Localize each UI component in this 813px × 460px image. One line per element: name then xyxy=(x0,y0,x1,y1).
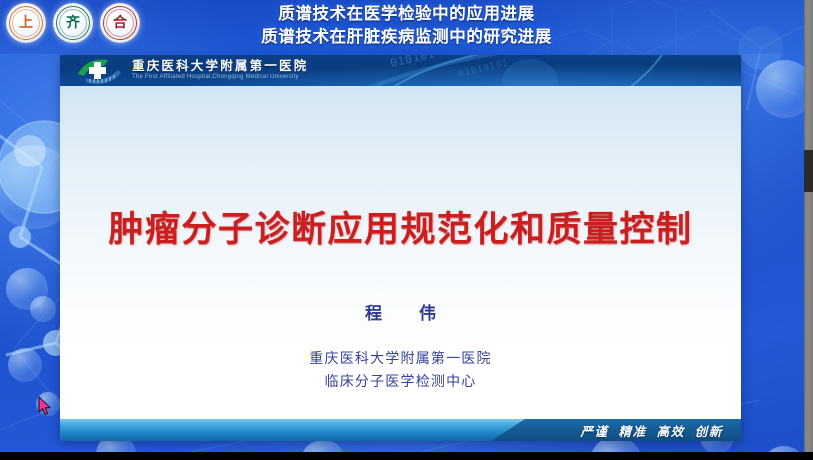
hospital-name-en: The First Affiliated Hospital,Chongqing … xyxy=(132,73,308,82)
slide-header-band: 010101 01010101 xyxy=(60,55,741,86)
mouse-cursor-icon xyxy=(38,396,52,416)
affiliation-line-2: 临床分子医学检测中心 xyxy=(60,371,741,394)
conference-banner: 上 齐 合 质谱技术在医学检验中的应用进展 质谱技术在肝脏疾病监测中的研究进展 xyxy=(0,0,813,54)
affiliation-block: 重庆医科大学附属第一医院 临床分子医学检测中心 xyxy=(60,348,741,394)
scrollbar-thumb[interactable] xyxy=(804,150,813,192)
footer-motto-panel: 严谨 精准 高效 创新 xyxy=(491,419,741,441)
organization-logos: 上 齐 合 xyxy=(6,3,140,43)
slide-footer-band: 严谨 精准 高效 创新 xyxy=(60,419,741,441)
affiliation-line-1: 重庆医科大学附属第一医院 xyxy=(60,348,741,371)
hospital-logo-icon xyxy=(74,56,126,84)
presenter-name: 程 伟 xyxy=(60,299,741,324)
organization-logo-orange: 上 xyxy=(6,3,46,43)
organization-logo-red-mark: 合 xyxy=(113,16,127,30)
window-bottom-edge xyxy=(0,452,813,460)
organization-logo-red: 合 xyxy=(100,3,140,43)
vertical-scrollbar[interactable] xyxy=(804,0,813,452)
video-player-frame[interactable]: 上 齐 合 质谱技术在医学检验中的应用进展 质谱技术在肝脏疾病监测中的研究进展 xyxy=(0,0,813,460)
organization-logo-green: 齐 xyxy=(53,3,93,43)
footer-motto-text: 严谨 精准 高效 创新 xyxy=(580,421,723,440)
slide-content-area: 肿瘤分子诊断应用规范化和质量控制 程 伟 重庆医科大学附属第一医院 临床分子医学… xyxy=(60,86,741,419)
hospital-brand: 重庆医科大学附属第一医院 The First Affiliated Hospit… xyxy=(74,56,308,84)
presentation-slide[interactable]: 010101 01010101 xyxy=(60,55,741,441)
hospital-name-zh: 重庆医科大学附属第一医院 xyxy=(132,59,308,73)
hospital-name-block: 重庆医科大学附属第一医院 The First Affiliated Hospit… xyxy=(132,59,308,82)
organization-logo-green-mark: 齐 xyxy=(66,16,80,30)
organization-logo-orange-mark: 上 xyxy=(19,16,33,30)
slide-main-title: 肿瘤分子诊断应用规范化和质量控制 xyxy=(60,201,741,252)
